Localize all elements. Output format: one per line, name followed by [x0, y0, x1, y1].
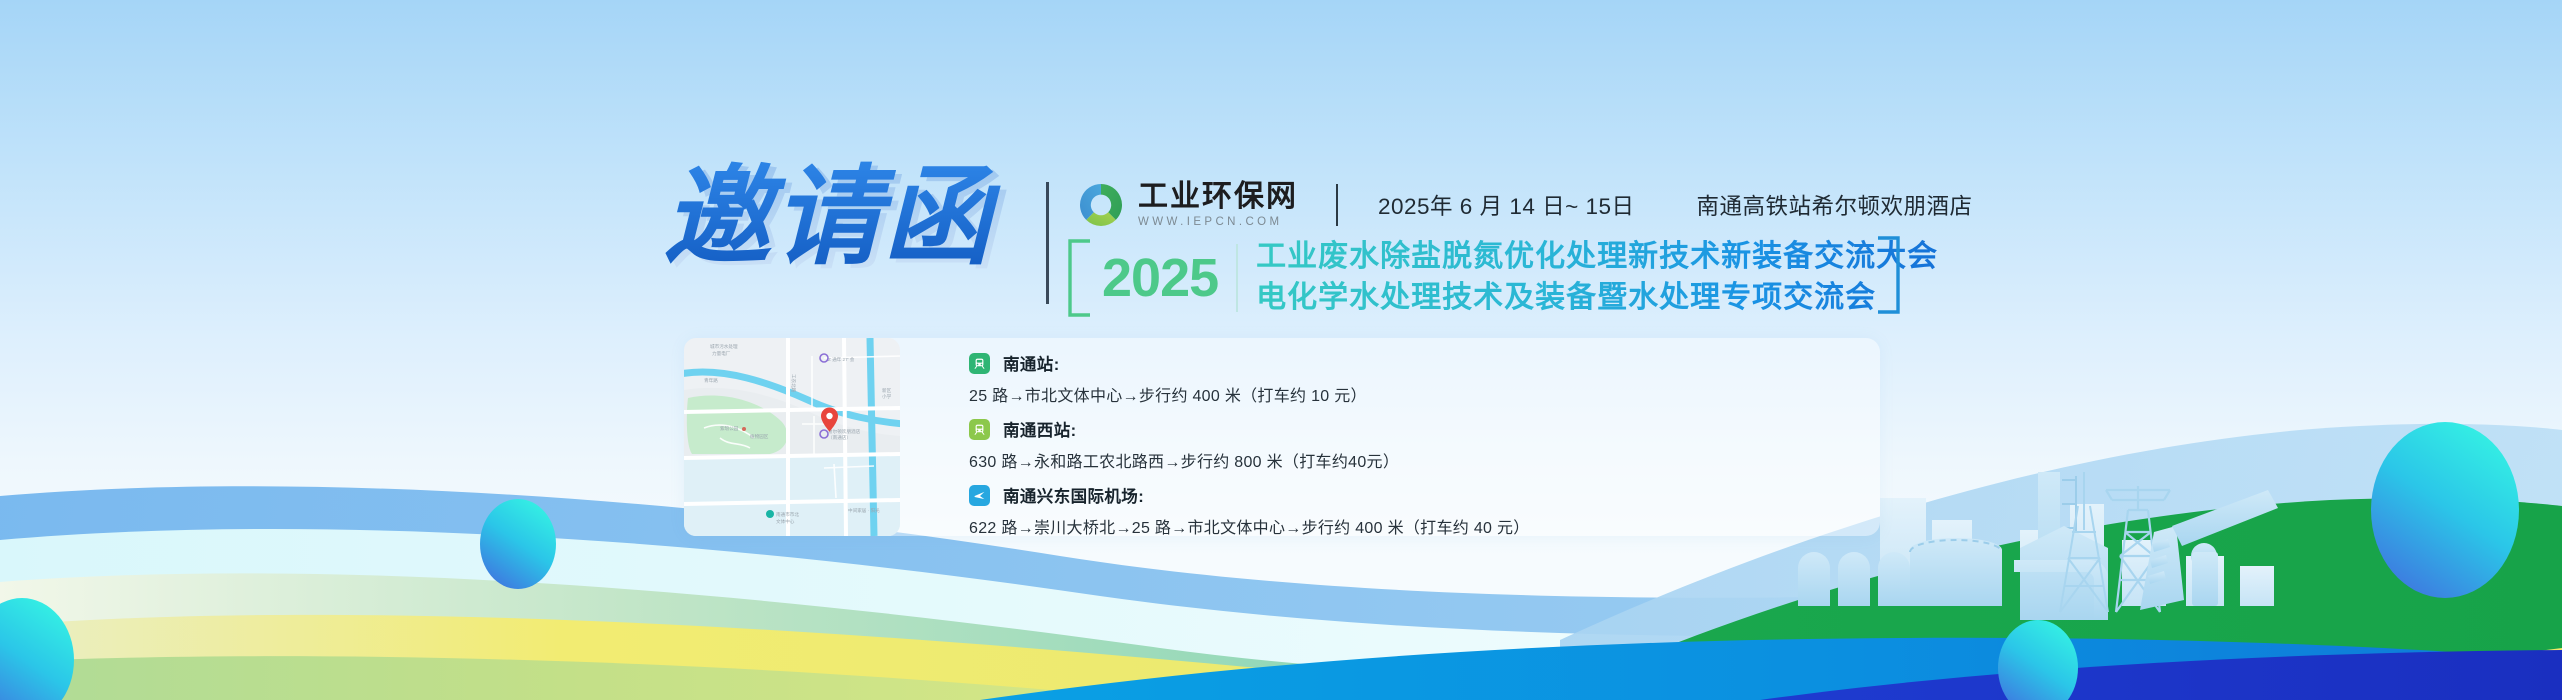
brand-url: WWW.IEPCN.COM — [1138, 217, 1298, 229]
train-icon — [969, 419, 990, 440]
svg-text:新区: 新区 — [882, 387, 892, 394]
svg-text:南通市市北: 南通市市北 — [776, 511, 799, 518]
svg-text:（南通店）: （南通店） — [828, 434, 851, 441]
event-date: 2025年 6 月 14 日~ 15日 — [1378, 189, 1635, 221]
route-name: 南通站: — [1003, 351, 1060, 375]
train-icon — [969, 353, 990, 374]
route-description: 630 路→永和路工农北路西→步行约 800 米（打车约40元） — [969, 448, 1866, 472]
event-venue: 南通高铁站希尔顿欢朋酒店 — [1697, 189, 1973, 221]
route-name: 南通西站: — [1003, 417, 1077, 441]
svg-text:植物园区: 植物园区 — [750, 433, 769, 440]
route-header: 南通兴东国际机场: — [969, 484, 1866, 506]
bracket-left-icon — [1066, 239, 1092, 317]
transit-info-panel: 城市污水处理力量电厂 紫琅公园 植物园区 Z 通年 27' 会 希尔顿欢朋酒店（… — [684, 338, 1880, 536]
page-title: 邀请函 邀请函 — [655, 158, 1045, 288]
svg-text:紫琅公园: 紫琅公园 — [720, 425, 739, 432]
route-item: 南通西站: 630 路→永和路工农北路西→步行约 800 米（打车约40元） — [969, 418, 1866, 472]
sphere-mid-left — [480, 499, 556, 589]
svg-text:力量电厂: 力量电厂 — [712, 350, 731, 357]
conference-title-block: 2025 工业废水除盐脱氮优化处理新技术新装备交流大会 电化学水处理技术及装备暨… — [1066, 236, 1938, 320]
route-header: 南通西站: — [969, 418, 1866, 440]
route-description: 25 路→市北文体中心→步行约 400 米（打车约 10 元） — [969, 382, 1866, 406]
conference-divider — [1236, 244, 1238, 312]
airplane-icon — [969, 485, 990, 506]
brand-name: 工业环保网 — [1138, 182, 1298, 212]
bracket-right-icon — [1876, 236, 1902, 314]
iepcn-ring-logo-icon — [1078, 182, 1124, 228]
location-map-thumbnail[interactable]: 城市污水处理力量电厂 紫琅公园 植物园区 Z 通年 27' 会 希尔顿欢朋酒店（… — [684, 338, 900, 536]
svg-text:中间家居 · 阳光: 中间家居 · 阳光 — [848, 507, 880, 514]
conference-line-2: 电化学水处理技术及装备暨水处理专项交流会 — [1256, 280, 1938, 317]
route-item: 南通兴东国际机场: 622 路→崇川大桥北→25 路→市北文体中心→步行约 40… — [969, 484, 1866, 538]
year-badge: 2025 — [1102, 251, 1218, 305]
brand-text: 工业环保网 WWW.IEPCN.COM — [1138, 181, 1298, 229]
svg-text:文体中心: 文体中心 — [776, 518, 795, 525]
invitation-banner: 邀请函 邀请函 — [0, 0, 2562, 700]
route-name: 南通兴东国际机场: — [1003, 483, 1144, 507]
route-item: 南通站: 25 路→市北文体中心→步行约 400 米（打车约 10 元） — [969, 352, 1866, 406]
conference-lines: 工业废水除盐脱氮优化处理新技术新装备交流大会 电化学水处理技术及装备暨水处理专项… — [1256, 239, 1938, 316]
sphere-skyline — [1998, 620, 2078, 700]
brand-and-meta-row: 工业环保网 WWW.IEPCN.COM 2025年 6 月 14 日~ 15日 … — [1078, 176, 1973, 234]
svg-text:Z 通年 27' 会: Z 通年 27' 会 — [828, 356, 855, 363]
routes-list: 南通站: 25 路→市北文体中心→步行约 400 米（打车约 10 元） 南通西… — [969, 352, 1866, 538]
svg-text:希尔顿欢朋酒店: 希尔顿欢朋酒店 — [828, 428, 861, 435]
meta-divider — [1336, 184, 1338, 226]
route-description: 622 路→崇川大桥北→25 路→市北文体中心→步行约 400 米（打车约 40… — [969, 514, 1866, 538]
conference-line-1: 工业废水除盐脱氮优化处理新技术新装备交流大会 — [1256, 239, 1938, 276]
svg-text:青年路: 青年路 — [704, 377, 718, 384]
svg-text:城市污水处理: 城市污水处理 — [710, 343, 738, 350]
sphere-small-left — [0, 598, 74, 700]
route-header: 南通站: — [969, 352, 1866, 374]
svg-text:工农北路: 工农北路 — [790, 374, 797, 393]
svg-text:小学: 小学 — [882, 393, 892, 400]
header-divider — [1046, 182, 1049, 304]
sphere-large-right — [2371, 422, 2519, 598]
page-title-text: 邀请函 — [663, 158, 1001, 277]
banner-header: 邀请函 邀请函 — [0, 0, 2562, 340]
